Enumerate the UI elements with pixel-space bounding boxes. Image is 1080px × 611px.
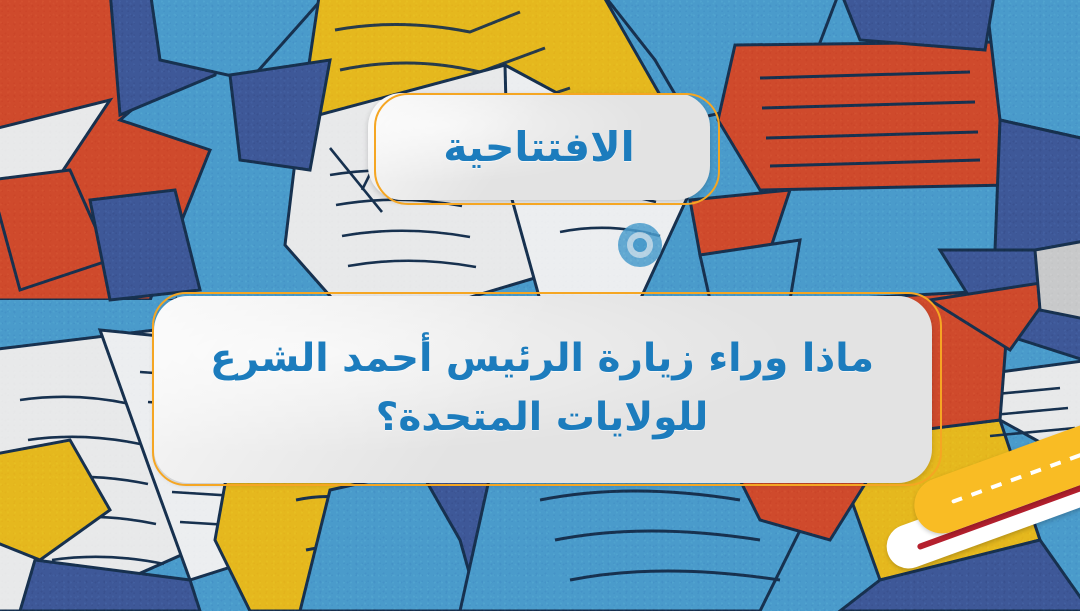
- headline-line-2: للولايات المتحدة؟: [376, 388, 708, 447]
- headline-line-1: ماذا وراء زيارة الرئيس أحمد الشرع: [210, 329, 874, 388]
- title-card: الافتتاحية: [368, 93, 720, 209]
- slide-canvas: الافتتاحية ماذا وراء زيارة الرئيس أحمد ا…: [0, 0, 1080, 611]
- page-title: الافتتاحية: [368, 93, 710, 200]
- headline: ماذا وراء زيارة الرئيس أحمد الشرع للولاي…: [180, 298, 904, 478]
- headline-card: ماذا وراء زيارة الرئيس أحمد الشرع للولاي…: [150, 292, 942, 488]
